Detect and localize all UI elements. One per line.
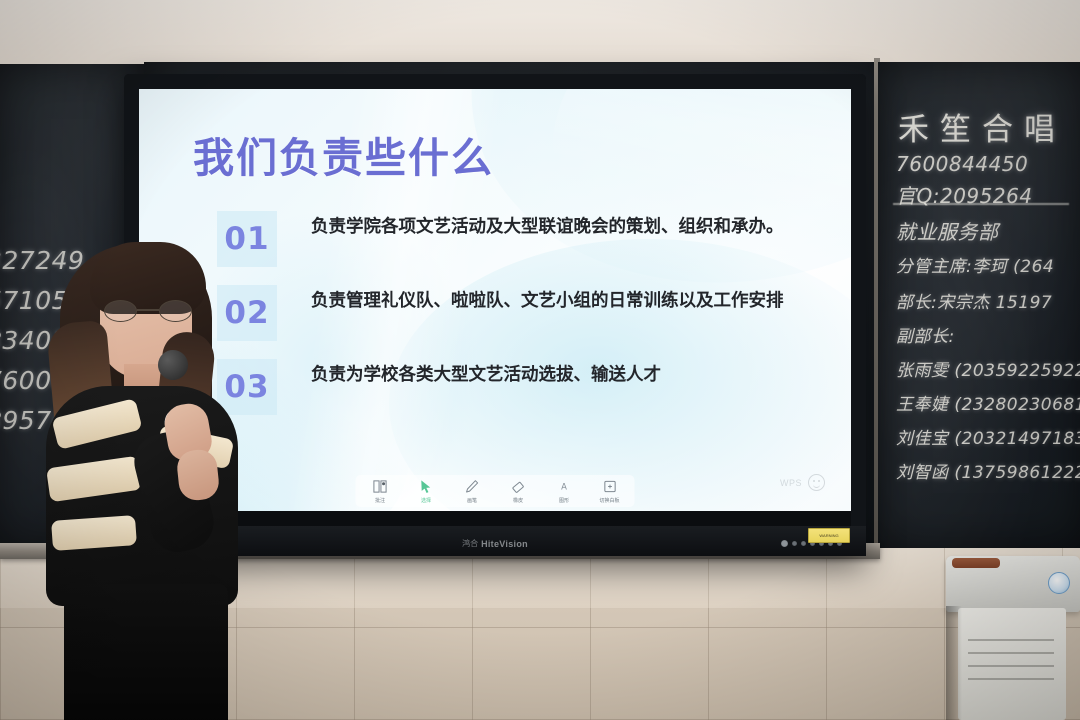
brand-name: HiteVision xyxy=(481,539,528,549)
warning-label: WARNING xyxy=(808,528,850,543)
chalk-department-name: 就业服务部 xyxy=(896,216,999,245)
chalk-underline xyxy=(893,203,1069,205)
chalk-phone-number: 7600844450 xyxy=(896,152,1028,176)
glasses-bridge xyxy=(137,309,159,311)
hardware-key-row[interactable]: WARNING xyxy=(781,540,842,547)
chalk-heading-choir: 禾笙合唱 xyxy=(898,104,1066,149)
chalk-member-0: 张雨雯 (20359225922 xyxy=(896,356,1080,381)
presenter-stripe xyxy=(51,515,137,551)
cart-trim xyxy=(952,558,1000,568)
presenter-glasses xyxy=(104,300,192,322)
hardware-key[interactable] xyxy=(792,541,797,546)
chalk-member-1: 王奉婕 (23280230681 xyxy=(896,390,1080,415)
chalk-member-3: 刘智函 (13759861222) xyxy=(896,458,1080,483)
cart-shadow xyxy=(946,606,962,720)
brand-mark: 鸿合 xyxy=(462,538,478,549)
power-button[interactable] xyxy=(781,540,788,547)
presenter-hand-lower xyxy=(175,448,220,502)
presenter-skirt xyxy=(64,584,228,720)
hardware-key[interactable] xyxy=(801,541,806,546)
classroom-presentation-scene: 327249 57105 83401 76000 89576 禾笙合唱 7600… xyxy=(0,0,1080,720)
brand-logo: 鸿合 HiteVision xyxy=(462,538,528,549)
presenter-figure xyxy=(38,236,268,720)
cart-badge-sticker xyxy=(1048,572,1070,594)
chalk-deputy-label: 副部长: xyxy=(896,322,955,347)
glasses-lens-right xyxy=(159,300,192,322)
chalk-head-name: 部长:宋宗杰 15197 xyxy=(896,288,1052,313)
chalk-member-2: 刘佳宝 (20321497183 xyxy=(896,424,1080,449)
cart-vent-slots xyxy=(968,628,1054,690)
chalk-chair-name: 分管主席:李珂 (264 xyxy=(896,252,1054,277)
equipment-cart xyxy=(946,556,1080,720)
glasses-lens-left xyxy=(104,300,137,322)
